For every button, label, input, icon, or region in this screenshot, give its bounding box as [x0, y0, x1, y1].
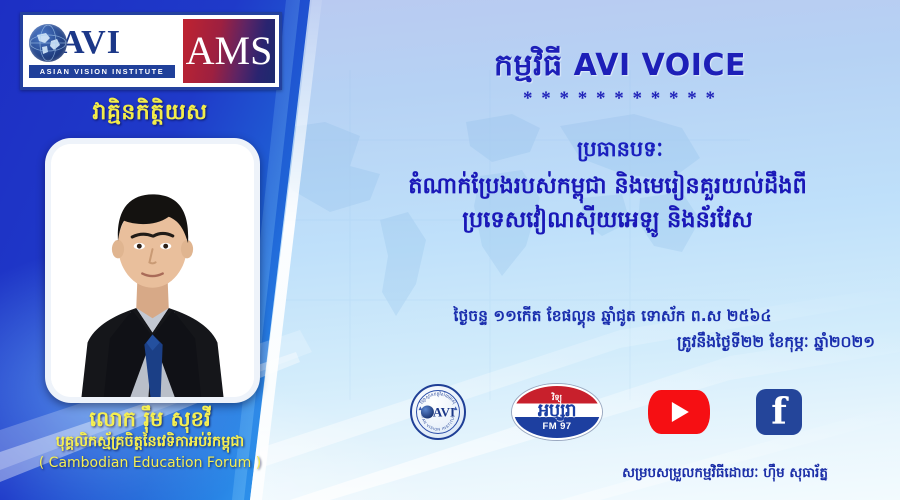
- globe-icon: [29, 24, 67, 62]
- partner-logo-row: វិទ្យាស្ថានចក្ខុវិស័យអាស៊ី ASIAN VISION …: [410, 383, 875, 441]
- speaker-name: លោក រ៉ឹម សុខវី: [0, 406, 300, 432]
- radio-band: FM 97: [543, 422, 572, 432]
- speaker-info: លោក រ៉ឹម សុខវី បុគ្គលិកស្ម័គ្រចិត្តនៃវេទ…: [0, 406, 300, 473]
- topic-label: ប្រធានបទៈ: [340, 136, 900, 167]
- apsara-fm-logo: វិទ្យុ អប្សរា FM 97: [512, 384, 602, 440]
- radio-name: អប្សរា: [538, 402, 576, 420]
- facebook-icon[interactable]: f: [756, 389, 802, 435]
- topic-line-2: ប្រទេសវៀណស៊ីយអេឡូ និងន័រវែស: [320, 204, 895, 238]
- avi-tagline: ASIAN VISION INSTITUTE: [29, 65, 175, 78]
- topic-text: តំណាក់ប្រែងរបស់កម្ពុជា និងមេរៀនគួរយល់ដឹង…: [320, 170, 895, 238]
- avi-logo-left: AVI ASIAN VISION INSTITUTE: [23, 15, 181, 87]
- speaker-portrait-frame: [45, 138, 260, 403]
- speaker-portrait: [51, 144, 254, 397]
- guest-label: វាគ្មិនកិត្តិយស: [0, 98, 300, 130]
- avi-ams-logo: AVI ASIAN VISION INSTITUTE AMS: [20, 12, 282, 90]
- date-lunar: ថ្ងៃចន្ទ ១១កើត ខែផល្គុន ឆ្នាំជូត ទោស័ក ព…: [340, 303, 885, 329]
- date-block: ថ្ងៃចន្ទ ១១កើត ខែផល្គុន ឆ្នាំជូត ទោស័ក ព…: [340, 303, 885, 356]
- youtube-icon[interactable]: [648, 390, 710, 434]
- seal-avi-mark: AVI: [421, 406, 455, 419]
- avi-voice-poster: AVI ASIAN VISION INSTITUTE AMS វាគ្មិនកិ…: [0, 0, 900, 500]
- facebook-f-glyph: f: [771, 394, 787, 430]
- program-title: កម្មវិធី AVI VOICE: [340, 46, 900, 90]
- ams-wordmark: AMS: [186, 31, 273, 71]
- date-gregorian: ត្រូវនឹងថ្ងៃទី២២ ខែកុម្ភៈ ឆ្នាំ២០២១: [340, 329, 885, 355]
- avi-wordmark: AVI: [60, 26, 121, 60]
- seal-avi-text: AVI: [433, 406, 455, 419]
- avi-seal-logo: វិទ្យាស្ថានចក្ខុវិស័យអាស៊ី ASIAN VISION …: [410, 384, 466, 440]
- ams-logo-block: AMS: [183, 19, 275, 83]
- speaker-organization: ( Cambodian Education Forum ): [0, 454, 300, 473]
- topic-line-1: តំណាក់ប្រែងរបស់កម្ពុជា និងមេរៀនគួរយល់ដឹង…: [320, 170, 895, 204]
- title-divider: * * * * * * * * * * *: [340, 88, 900, 110]
- speaker-role: បុគ្គលិកស្ម័គ្រចិត្តនៃវេទិកាអប់រំកម្ពុជា: [0, 433, 300, 453]
- program-credit: សម្របសម្រួលកម្មវិធីដោយៈ ហ៊ឹម សុធារ័ត្ន: [560, 464, 890, 484]
